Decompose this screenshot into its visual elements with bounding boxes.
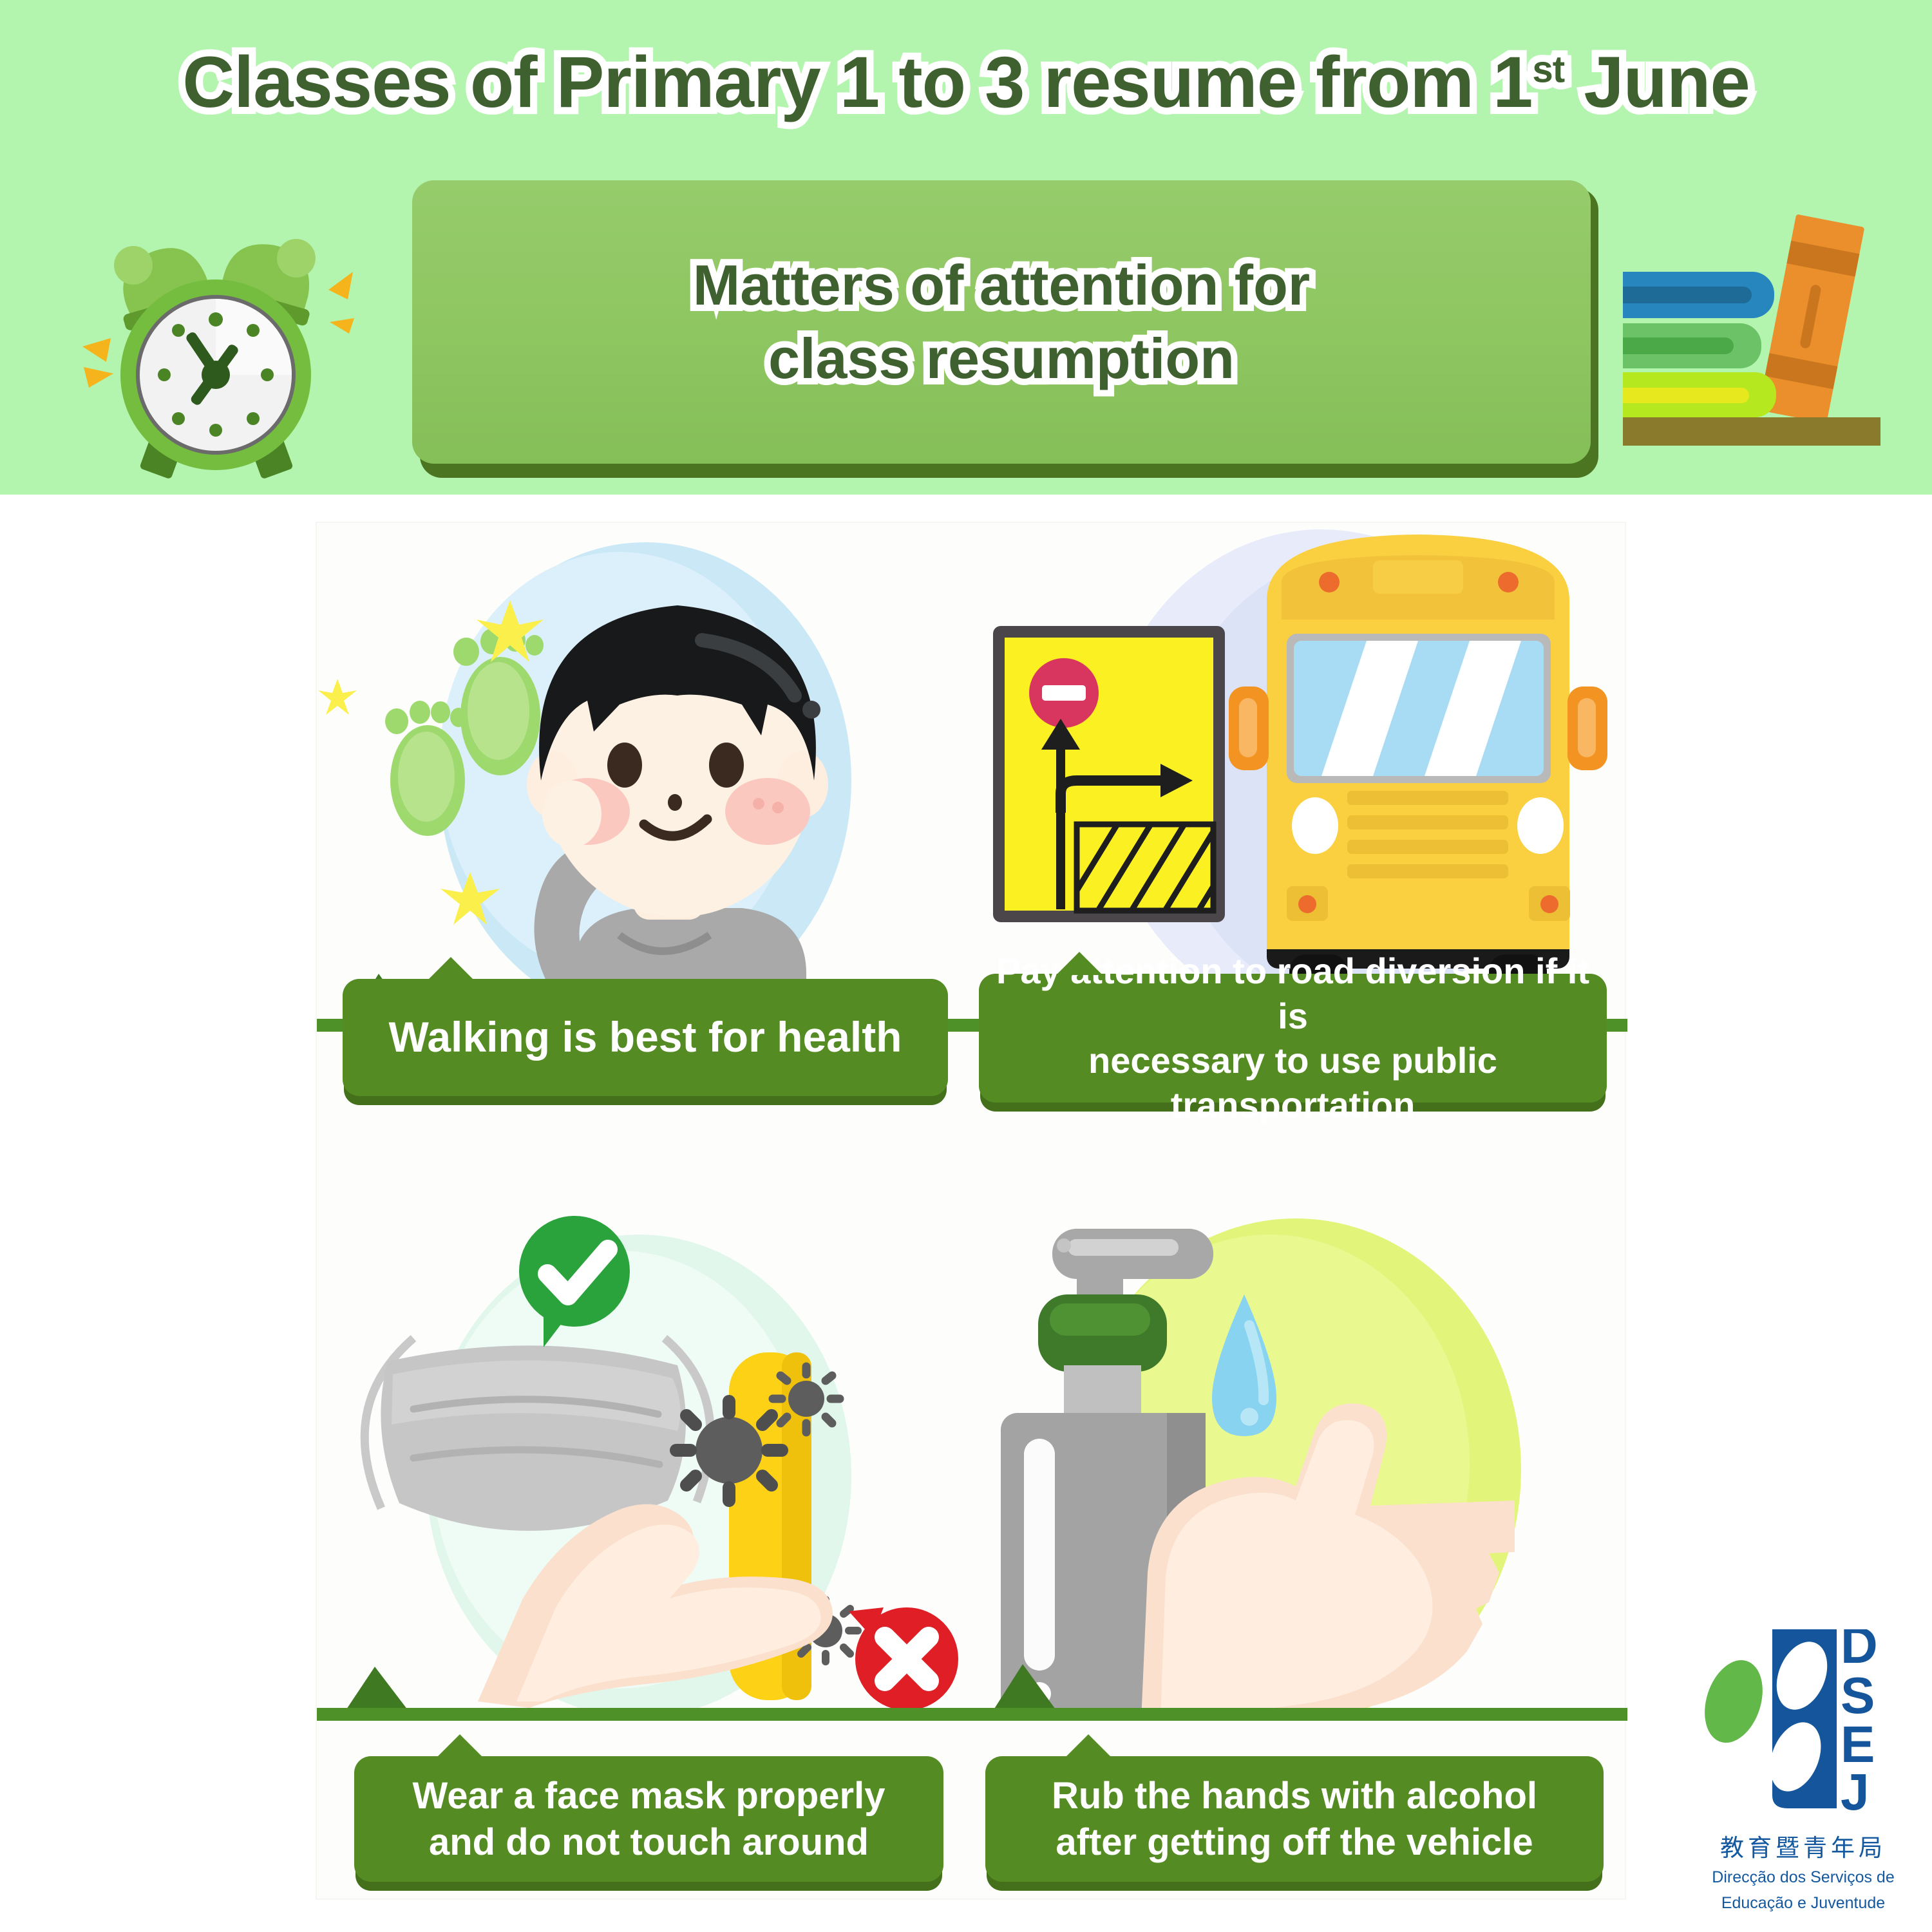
caption-transport-line2: necessary to use public transportation [996, 1038, 1590, 1128]
caption-sanitizer-line2: after getting off the vehicle [1052, 1819, 1537, 1866]
panel-transport: Pay attention to road diversion if it is… [974, 523, 1627, 1212]
page-title: Classes of Primary 1 to 3 resume from 1s… [0, 37, 1932, 128]
page-title-ordinal-suffix: st [1532, 49, 1564, 91]
header-title-line2: class resumption [693, 322, 1310, 395]
alcohol-dispenser-and-hand-icon [974, 1212, 1627, 1721]
header-box: Matters of attention for class resumptio… [412, 180, 1591, 464]
caption-mask: Wear a face mask properly and do not tou… [354, 1756, 943, 1882]
caption-mask-line1: Wear a face mask properly [413, 1773, 885, 1819]
panel-grid: Walking is best for health [316, 522, 1626, 1900]
header-title: Matters of attention for class resumptio… [693, 249, 1310, 396]
panel-walking: Walking is best for health [317, 523, 974, 1212]
svg-text:J: J [1841, 1763, 1870, 1821]
logo-chinese-name: 教育暨青年局 [1674, 1834, 1932, 1862]
caption-transport-line1: Pay attention to road diversion if it is [996, 949, 1590, 1038]
logo-portuguese-line2: Educação e Juventude [1674, 1893, 1932, 1914]
caption-sanitizer: Rub the hands with alcohol after getting… [985, 1756, 1604, 1882]
logo-portuguese-line1: Direcção dos Serviços de [1674, 1867, 1932, 1888]
panel-sanitizer: Rub the hands with alcohol after getting… [974, 1212, 1627, 1901]
panel-mask: Wear a face mask properly and do not tou… [317, 1212, 974, 1901]
boy-walking-footprints-icon [317, 523, 974, 1032]
page-title-suffix: June [1564, 42, 1750, 122]
caption-sanitizer-line1: Rub the hands with alcohol [1052, 1773, 1537, 1819]
caption-transport: Pay attention to road diversion if it is… [979, 974, 1607, 1103]
page-title-prefix: Classes of Primary 1 to 3 resume from 1 [182, 42, 1532, 122]
header-title-line1: Matters of attention for [693, 249, 1310, 322]
caption-walking-text: Walking is best for health [389, 1011, 902, 1064]
book-stack-icon [1623, 213, 1880, 457]
dsej-logo: D S E J 教育暨青年局 Direcção dos Serviços de … [1674, 1629, 1932, 1926]
alarm-clock-icon [71, 200, 361, 489]
caption-mask-line2: and do not touch around [413, 1819, 885, 1866]
face-mask-check-and-germ-cross-icon [317, 1212, 974, 1721]
caption-walking: Walking is best for health [343, 979, 948, 1096]
